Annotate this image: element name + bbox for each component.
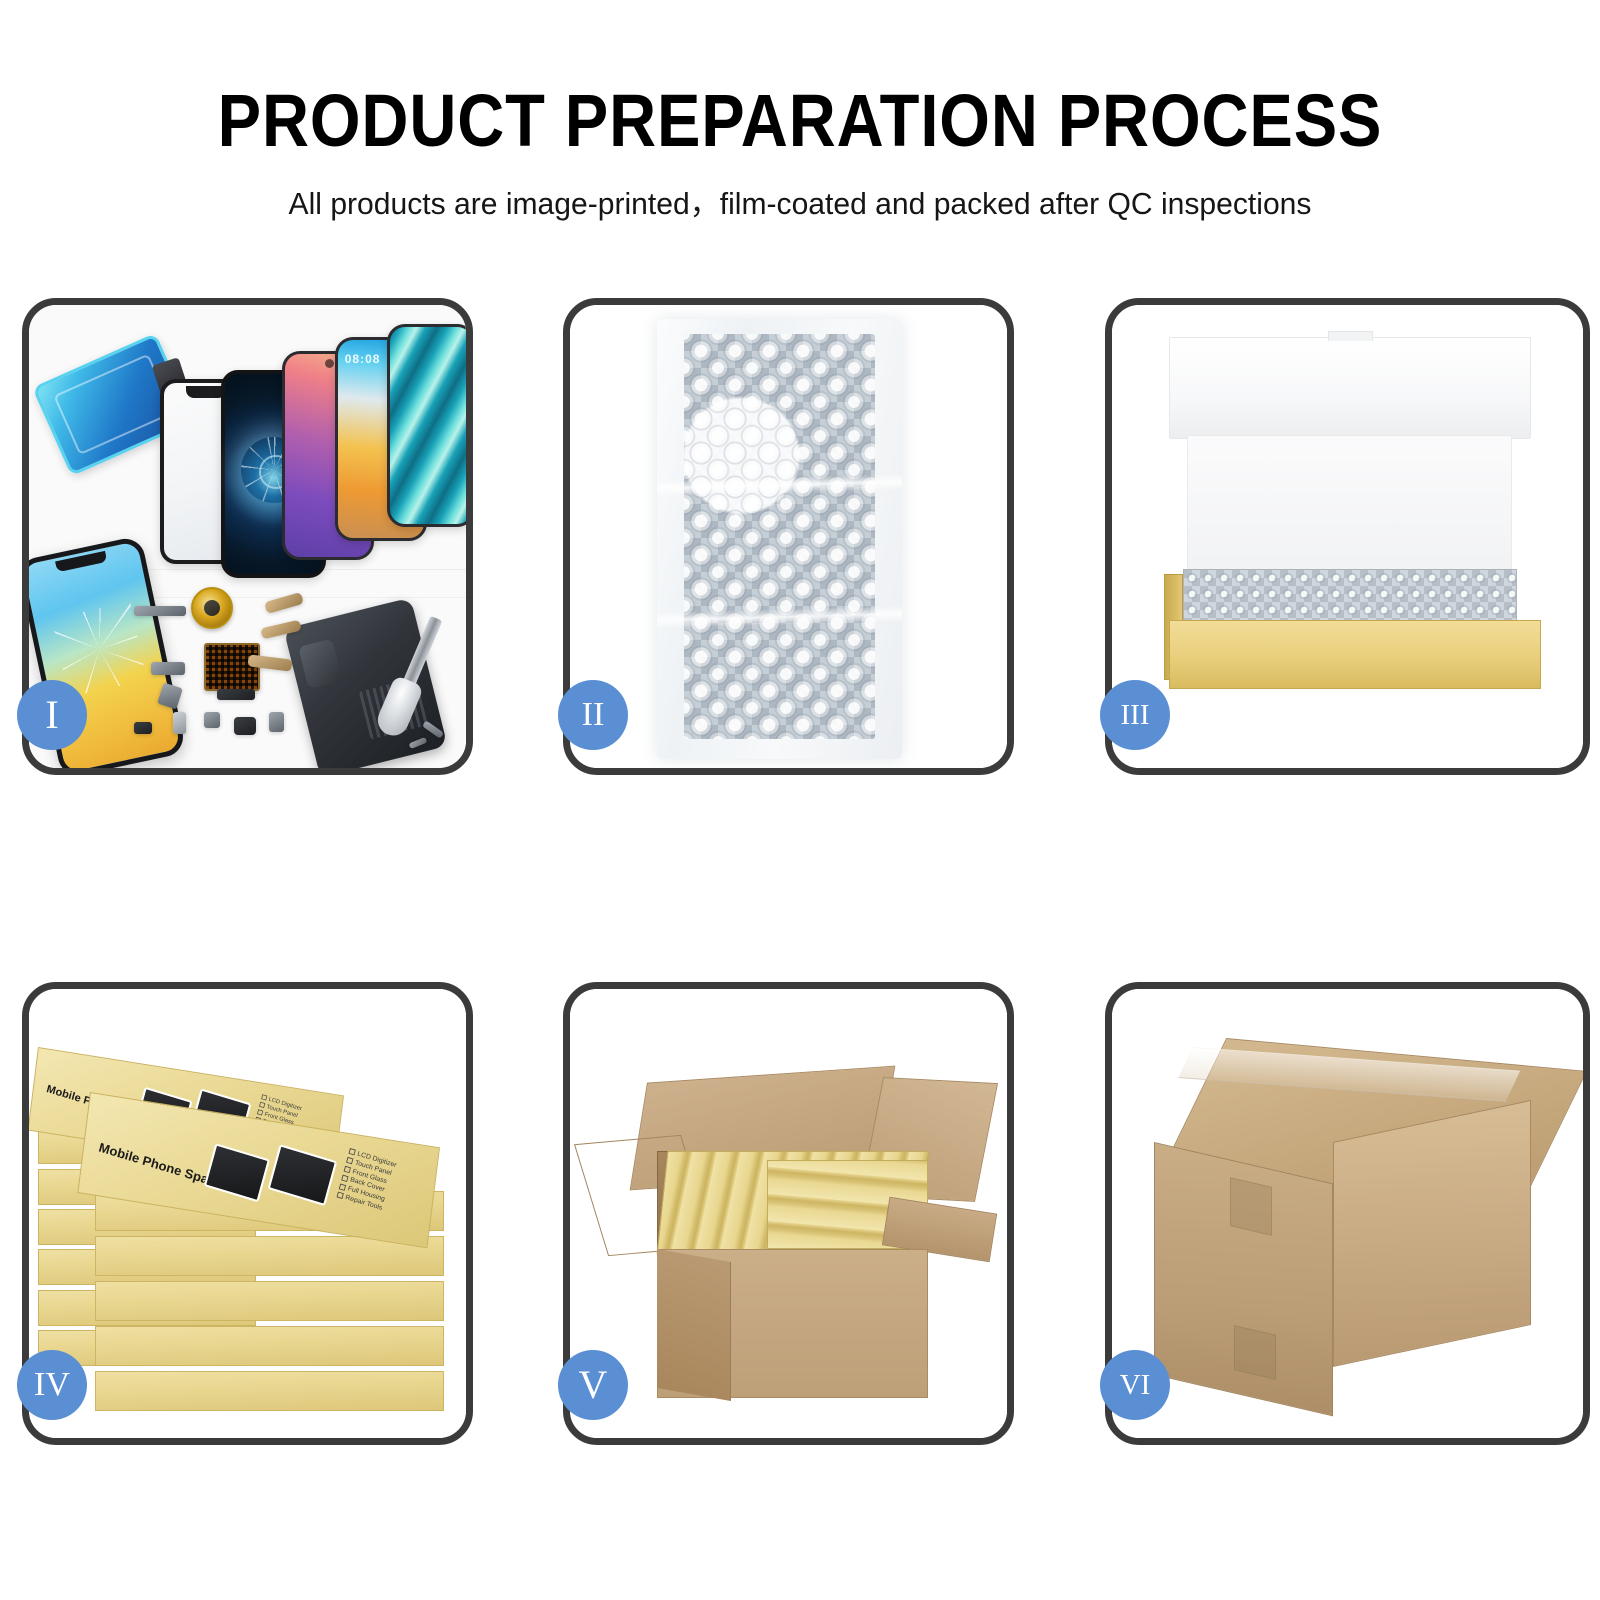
connector-part-1: [151, 662, 185, 675]
small-part: [134, 722, 152, 734]
camera-coil-part: [191, 587, 233, 629]
open-carton-scene: [570, 989, 1007, 1438]
speaker-part: [134, 606, 186, 616]
step-badge-3: III: [1100, 680, 1170, 750]
bubble-wrapped-contents: [1183, 569, 1517, 625]
vibrator-part: [269, 712, 284, 732]
panel-6-image: [1112, 989, 1583, 1438]
process-panel-2: II: [563, 298, 1014, 775]
inner-box-scene: [1112, 305, 1583, 768]
teal-phone-icon: [387, 324, 466, 528]
process-panel-6: VI: [1105, 982, 1590, 1445]
box-screen-image-front-1: [204, 1144, 270, 1203]
process-panel-5: V: [563, 982, 1014, 1445]
box-screen-image-front-2: [267, 1145, 337, 1207]
stacked-box-front-5: [95, 1326, 445, 1366]
header: PRODUCT PREPARATION PROCESS All products…: [0, 0, 1600, 219]
sim-tray-part: [173, 712, 186, 734]
step-badge-2: II: [558, 680, 628, 750]
stacked-box-front-4: [95, 1281, 445, 1321]
panel-3-image: [1112, 305, 1583, 768]
infographic-page: PRODUCT PREPARATION PROCESS All products…: [0, 0, 1600, 1600]
sealed-carton-scene: [1112, 989, 1583, 1438]
chip-part: [204, 643, 260, 691]
panel-4-image: Mobile Phone Spare Parts LCD Digitizer T…: [29, 989, 466, 1438]
panel-5-image: [570, 989, 1007, 1438]
panel-1-image: 08:08: [29, 305, 466, 768]
bubble-wrap-bag: [657, 319, 902, 759]
phone-clock-label: 08:08: [345, 352, 381, 366]
carton-right-face: [1333, 1100, 1531, 1367]
page-title: PRODUCT PREPARATION PROCESS: [96, 84, 1504, 158]
bubble-wrap-scene: [570, 305, 1007, 768]
step-badge-4: IV: [17, 1350, 87, 1420]
step-badge-1: I: [17, 680, 87, 750]
step-badge-6: VI: [1100, 1350, 1170, 1420]
phone-parts-scene: 08:08: [29, 305, 466, 768]
process-panel-1: 08:08: [22, 298, 473, 775]
box-front-wall: [1169, 620, 1541, 689]
module-part-2: [234, 717, 256, 735]
process-panel-4: Mobile Phone Spare Parts LCD Digitizer T…: [22, 982, 473, 1445]
carton-tab-upper: [1230, 1177, 1272, 1236]
button-part: [204, 712, 220, 728]
box-lid: [1169, 337, 1532, 439]
box-checklist-front: LCD Digitizer Touch Panel Front Glass Ba…: [336, 1148, 398, 1214]
stacked-box-front-6: [95, 1371, 445, 1411]
bubble-wrap-texture: [684, 334, 875, 739]
page-subtitle: All products are image-printed，film-coat…: [24, 188, 1576, 219]
module-part-1: [217, 689, 255, 700]
panel-2-image: [570, 305, 1007, 768]
box-stack-scene: Mobile Phone Spare Parts LCD Digitizer T…: [29, 989, 466, 1438]
flex-cable-part-1: [264, 592, 304, 614]
step-badge-5: V: [558, 1350, 628, 1420]
box-back-wall: [1187, 435, 1512, 579]
process-panel-3: III: [1105, 298, 1590, 775]
carton-side-face: [657, 1249, 731, 1401]
